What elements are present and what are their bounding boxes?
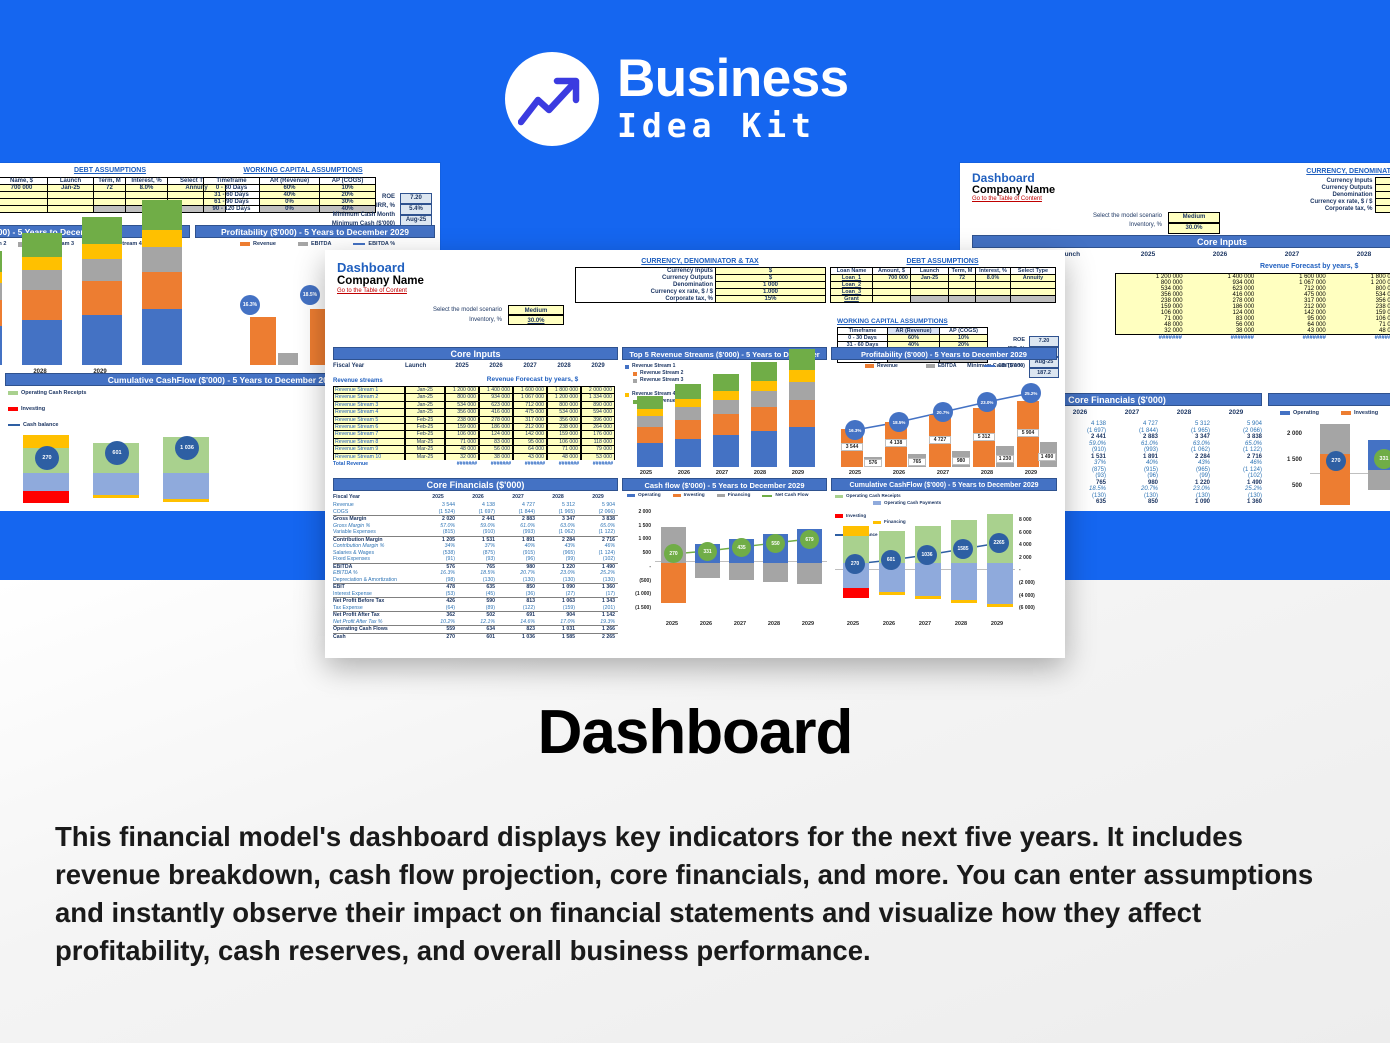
page-heading: Dashboard [0, 697, 1390, 768]
cumulative-axis-labels: 2025 2026 2027 2028 2029 [835, 621, 1015, 627]
fin-row-value: (201) [578, 605, 618, 612]
right-scenario-values: Medium 30.0% [1168, 212, 1220, 234]
stream-value[interactable]: 48 000 [445, 445, 479, 452]
stream-value[interactable]: 356 000 [445, 408, 479, 415]
table-row[interactable]: Loan_3 [831, 289, 1056, 296]
table-row[interactable]: Loan_2 [831, 282, 1056, 289]
axis-label: 2028 [965, 470, 1009, 476]
ebitda-data-label: 765 [908, 458, 926, 466]
currency-table[interactable]: Currency Inputs$ Currency Outputs$ Denom… [575, 267, 826, 303]
legend-item: EBITDA % [998, 363, 1022, 369]
stream-value[interactable]: 317 000 [513, 416, 547, 423]
table-row[interactable]: Revenue Stream 8Mar-2571 00083 00095 000… [333, 438, 618, 445]
table-row[interactable]: Revenue Stream 4Jan-25356 000416 000475 … [333, 408, 618, 415]
stream-launch[interactable]: Feb-25 [405, 423, 445, 430]
stream-name[interactable]: Revenue Stream 5 [333, 416, 405, 423]
profitability-axis-labels: 2025 2026 2027 2028 2029 [833, 470, 1057, 476]
wc-section-title: WORKING CAPITAL ASSUMPTIONS [837, 318, 1017, 325]
stream-name[interactable]: Revenue Stream 10 [333, 453, 405, 460]
currency-row-value[interactable]: 15% [716, 296, 826, 303]
loan-term[interactable]: 72 [949, 275, 976, 282]
table-row: Operating Cash Flows5596348231 0311 266 [333, 625, 618, 633]
table-row: Net Profit Before Tax4265908131 0631 343 [333, 597, 618, 605]
fiscal-year-label: Fiscal Year [333, 494, 418, 500]
stream-value[interactable]: 1 200 000 [445, 386, 479, 393]
loan-interest[interactable]: 8.0% [976, 275, 1011, 282]
fin-row-value: (53) [418, 591, 458, 598]
stream-value[interactable]: 56 000 [479, 445, 513, 452]
total-revenue-label: Total Revenue [333, 461, 405, 467]
cash-balance-bubble: 601 [881, 550, 901, 570]
axis-label: 2027 [921, 470, 965, 476]
stream-value[interactable]: 534 000 [445, 401, 479, 408]
right-banner-core-inputs: Core Inputs [972, 235, 1390, 248]
legend-profitability: Revenue EBITDA EBITDA % [865, 363, 1023, 369]
currency-row-label: Currency Outputs [576, 275, 716, 282]
currency-section-title: CURRENCY, DENOMINATOR & TAX [575, 258, 825, 265]
fin-row-value: (1 524) [418, 509, 458, 516]
fin-row-value: (130) [458, 577, 498, 584]
left-debt-title: DEBT ASSUMPTIONS [0, 167, 225, 174]
fin-row-value: (1 844) [498, 509, 538, 516]
kpi-label: ROE [1013, 337, 1025, 343]
stream-value[interactable]: 1 400 000 [479, 386, 513, 393]
fin-row-value: 559 [418, 626, 458, 633]
table-row: Interest Expense(53)(45)(36)(27)(17) [333, 591, 618, 598]
stream-value[interactable]: 238 000 [547, 423, 581, 430]
fin-row-value: (2 066) [578, 509, 618, 516]
stream-value[interactable]: 712 000 [513, 401, 547, 408]
stream-launch[interactable]: Jan-25 [405, 408, 445, 415]
debt-table[interactable]: Loan Name Amount, $ Launch Term, M Inter… [830, 267, 1056, 303]
stream-value[interactable]: 53 000 [581, 453, 615, 460]
currency-row-label: Currency ex rate, $ / $ [576, 289, 716, 296]
total-value: ####### [479, 461, 513, 467]
table-row: COGS(1 524)(1 697)(1 844)(1 965)(2 066) [333, 509, 618, 516]
fin-row-value: 601 [458, 634, 498, 641]
year-header: 2025 [445, 363, 479, 369]
wc-col-header: Timeframe [838, 328, 888, 335]
stream-value[interactable]: 278 000 [479, 416, 513, 423]
revenue-data-label: 3 544 [841, 443, 863, 451]
netcashflow-bubble: 679 [800, 530, 819, 549]
cashflow-yticks: 2 0001 5001 000500-(500)(1 000)(1 500) [625, 506, 651, 616]
axis-label: 2027 [907, 621, 943, 627]
fin-row-label: Net Profit After Tax % [333, 619, 418, 626]
cash-balance-bubble: 1036 [917, 545, 937, 565]
fin-row-value: 10.2% [418, 619, 458, 626]
inventory-input[interactable]: 30.0% [508, 315, 564, 325]
year-header: 2027 [498, 494, 538, 500]
left-wc-title: WORKING CAPITAL ASSUMPTIONS [203, 167, 403, 174]
stream-name[interactable]: Revenue Stream 9 [333, 445, 405, 452]
year-header: 2028 [547, 363, 581, 369]
stream-name[interactable]: Revenue Stream 6 [333, 423, 405, 430]
stream-launch[interactable]: Mar-25 [405, 438, 445, 445]
banner-core-inputs: Core Inputs [333, 347, 618, 360]
axis-label: 2025 [833, 470, 877, 476]
currency-row-value[interactable]: $ [716, 268, 826, 275]
axis-label: 2029 [791, 621, 825, 627]
loan-type[interactable]: Annuity [1011, 275, 1056, 282]
stream-value[interactable]: 1 200 000 [547, 393, 581, 400]
legend-item: Revenue Stream 1 [632, 363, 675, 370]
right-chart-cashflow: 270 331 435 [1310, 421, 1390, 505]
stream-launch[interactable]: Jan-25 [405, 401, 445, 408]
fin-row-value: 17.0% [538, 619, 578, 626]
fin-row-value: 14.6% [498, 619, 538, 626]
right-toc-link[interactable]: Go to the Table of Content [972, 196, 1042, 202]
company-name: Company Name [337, 275, 424, 287]
netcashflow-bubble: 435 [732, 538, 751, 557]
fin-row-label: Tax Expense [333, 605, 418, 612]
debt-col-header: Amount, $ [873, 268, 911, 275]
revenue-forecast-title: Revenue Forecast by years, $ [445, 376, 620, 383]
table-row: Gross Margin2 0202 4412 8833 3473 838 [333, 515, 618, 523]
axis-label: 2029 [979, 621, 1015, 627]
fin-row-value: (1 062) [538, 529, 578, 536]
year-header: 2026 [479, 363, 513, 369]
core-fin-year-header: Fiscal Year 2025 2026 2027 2028 2029 [333, 494, 618, 500]
right-cashflow-yticks: 2 0001 500500 [1272, 421, 1302, 499]
fin-row-label: COGS [333, 509, 418, 516]
debt-section-title: DEBT ASSUMPTIONS [830, 258, 1055, 265]
chart-profitability: 16.3% 18.5% 20.7% 23.0% 25.2% 3 544 576 … [833, 374, 1057, 467]
fin-row-value: (27) [538, 591, 578, 598]
legend-item: Operating [638, 493, 661, 498]
axis-label: 2026 [871, 621, 907, 627]
table-of-content-link[interactable]: Go to the Table of Content [337, 288, 407, 294]
stream-name[interactable]: Revenue Stream 2 [333, 393, 405, 400]
ebitda-data-label: 1 230 [996, 455, 1014, 463]
banner-profitability: Profitability ($'000) - 5 Years to Decem… [831, 347, 1057, 360]
fin-row-value: (993) [498, 529, 538, 536]
stream-value[interactable]: 106 000 [547, 438, 581, 445]
revenue-data-label: 5 904 [1017, 429, 1039, 437]
stream-value[interactable]: 534 000 [547, 408, 581, 415]
stream-value[interactable]: 186 000 [479, 423, 513, 430]
currency-row-value[interactable]: 1 000 [716, 282, 826, 289]
loan-amount[interactable]: 700 000 [873, 275, 911, 282]
wc-col-header: AR (Revenue) [888, 328, 940, 335]
chart-top5-revenue [627, 382, 825, 467]
stream-value[interactable]: 32 000 [445, 453, 479, 460]
stream-value[interactable]: 212 000 [513, 423, 547, 430]
currency-row-value[interactable]: $ [716, 275, 826, 282]
table-row: Variable Expenses(815)(910)(993)(1 062)(… [333, 529, 618, 536]
stream-value[interactable]: 1 600 000 [513, 386, 547, 393]
cash-balance-bubble: 1585 [953, 539, 973, 559]
page-title: Dashboard [337, 260, 405, 275]
stream-value[interactable]: 890 000 [581, 401, 615, 408]
stream-value[interactable]: 176 000 [581, 430, 615, 437]
axis-label: 2029 [779, 470, 817, 476]
total-value: ####### [547, 461, 581, 467]
debt-col-header: Select Type [1011, 268, 1056, 275]
ebitda-pct-bubble: 16.3% [845, 420, 865, 440]
stream-value[interactable]: 95 000 [513, 438, 547, 445]
stream-name[interactable]: Revenue Stream 8 [333, 438, 405, 445]
inventory-label-text: Inventory, % [469, 317, 502, 323]
left-legend-profit: Revenue EBITDA EBITDA % [240, 241, 395, 247]
banner-core-financials: Core Financials ($'000) [333, 478, 618, 491]
netcashflow-bubble: 331 [698, 542, 717, 561]
core-financials-table: Fiscal Year 2025 2026 2027 2028 2029 Rev… [333, 494, 618, 640]
ebitda-data-label: 576 [864, 459, 882, 467]
brand-name-primary: Business [617, 52, 849, 105]
stream-value[interactable]: 79 000 [581, 445, 615, 452]
stream-launch[interactable]: Jan-25 [405, 393, 445, 400]
table-row: Net Profit After Tax %10.2%12.1%14.6%17.… [333, 619, 618, 626]
fin-row-label: Interest Expense [333, 591, 418, 598]
year-header: 2025 [418, 494, 458, 500]
table-row[interactable]: Revenue Stream 2Jan-25800 000934 0001 06… [333, 393, 618, 400]
fin-row-value: (1 965) [538, 509, 578, 516]
brand-name-secondary: Idea Kit [617, 105, 849, 146]
stream-launch[interactable]: Mar-25 [405, 453, 445, 460]
fin-row-value: 270 [418, 634, 458, 641]
fin-row-value: (130) [498, 577, 538, 584]
table-row: Net Profit After Tax3625026919041 142 [333, 611, 618, 619]
fin-row-value: 1 031 [538, 626, 578, 633]
axis-label: 2025 [627, 470, 665, 476]
ebitda-data-label: 980 [952, 457, 970, 465]
stream-value[interactable]: 1 800 000 [547, 386, 581, 393]
fin-row-value: (91) [418, 556, 458, 563]
stream-value[interactable]: 1 334 000 [581, 393, 615, 400]
stream-value[interactable]: 71 000 [445, 438, 479, 445]
fin-row-value: (99) [538, 556, 578, 563]
stream-value[interactable]: 64 000 [513, 445, 547, 452]
fin-row-value: (159) [538, 605, 578, 612]
banner-cash-flow: Cash flow ($'000) - 5 Years to December … [622, 478, 827, 491]
right-forecast-table: 1 200 0001 400 0001 600 0001 800 0002 00… [1115, 273, 1390, 341]
fin-row-value: (815) [418, 529, 458, 536]
stream-value[interactable]: 38 000 [479, 453, 513, 460]
ebitda-pct-bubble: 23.0% [977, 392, 997, 412]
axis-label: 2027 [723, 621, 757, 627]
wc-timeframe: 0 - 30 Days [838, 335, 888, 342]
stream-value[interactable]: 106 000 [445, 430, 479, 437]
axis-label: 2028 [943, 621, 979, 627]
axis-label: 2026 [689, 621, 723, 627]
legend-item: Revenue [877, 363, 898, 369]
currency-row-value[interactable]: 1.000 [716, 289, 826, 296]
fin-row-value: (910) [458, 529, 498, 536]
page-description: This financial model's dashboard display… [55, 818, 1340, 970]
left-banner-profit: Profitability ($'000) - 5 Years to Decem… [195, 225, 435, 238]
stream-value[interactable]: 800 000 [547, 401, 581, 408]
fin-row-value: (64) [418, 605, 458, 612]
core-inputs-header: Fiscal Year Launch 2025 2026 2027 2028 2… [333, 363, 618, 369]
stream-launch[interactable]: Jan-25 [405, 386, 445, 393]
table-row[interactable]: Revenue Stream 10Mar-2532 00038 00043 00… [333, 453, 618, 460]
stream-value[interactable]: 124 000 [479, 430, 513, 437]
table-row: Cash2706011 0361 5852 265 [333, 633, 618, 641]
fin-row-value: (89) [458, 605, 498, 612]
stream-value[interactable]: 264 000 [581, 423, 615, 430]
loan-name[interactable]: Loan_3 [831, 289, 873, 296]
right-legend-cashflow: Operating Investing [1280, 410, 1390, 416]
right-currency-title: CURRENCY, DENOMINATOR & TAX [1250, 168, 1390, 175]
fin-row-label: Fixed Expenses [333, 556, 418, 563]
table-row[interactable]: Loan_1 700 000 Jan-25 72 8.0% Annuity [831, 275, 1056, 282]
loan-name[interactable]: Loan_2 [831, 282, 873, 289]
stream-value[interactable]: 416 000 [479, 408, 513, 415]
revenue-streams-table[interactable]: Revenue Stream 1Jan-251 200 0001 400 000… [333, 386, 618, 467]
stream-value[interactable]: 83 000 [479, 438, 513, 445]
table-row[interactable]: Revenue Stream 1Jan-251 200 0001 400 000… [333, 386, 618, 393]
axis-label: 2025 [835, 621, 871, 627]
year-header: 2029 [581, 363, 615, 369]
table-row[interactable]: Revenue Stream 6Feb-25159 000186 000212 … [333, 423, 618, 430]
legend-item: Operating Cash Payments [884, 500, 941, 507]
fin-row-value: 1 585 [538, 634, 578, 641]
stream-name[interactable]: Revenue Stream 4 [333, 408, 405, 415]
stream-value[interactable]: 396 000 [581, 416, 615, 423]
left-debt-table: Name, $LaunchTerm, M Interest, %Select T… [0, 177, 226, 213]
revenue-streams-body[interactable]: Revenue Stream 1Jan-251 200 0001 400 000… [333, 386, 618, 460]
right-currency-table: Currency Inputs$ Currency Outputs$ Denom… [1250, 177, 1390, 213]
scenario-label-text: Select the model scenario [433, 307, 502, 313]
fin-row-value: 2 265 [578, 634, 618, 641]
dashboard-sheet[interactable]: Dashboard Company Name Go to the Table o… [325, 250, 1065, 658]
fin-row-value: (98) [418, 577, 458, 584]
fin-row-value: (1 122) [578, 529, 618, 536]
brand-logo: Business Idea Kit [505, 52, 849, 146]
ebitda-pct-bubble: 18.5% [889, 412, 909, 432]
scenario-inputs[interactable]: Medium 30.0% [508, 305, 564, 325]
cash-balance-bubble: 270 [845, 554, 865, 574]
scenario-label: Select the model scenario Inventory, % [337, 305, 502, 325]
total-value: ####### [581, 461, 615, 467]
right-scenario-labels: Select the model scenarioInventory, % [972, 212, 1162, 230]
stream-launch[interactable]: Mar-25 [405, 445, 445, 452]
stream-name[interactable]: Revenue Stream 7 [333, 430, 405, 437]
year-header: 2026 [458, 494, 498, 500]
kpi-value: 7.20 [1029, 336, 1059, 347]
right-forecast-title: Revenue Forecast by years, $ [1260, 263, 1390, 270]
table-row[interactable]: Revenue Stream 3Jan-25534 000623 000712 … [333, 401, 618, 408]
fiscal-year-label: Fiscal Year [333, 363, 405, 369]
fin-row-label: Operating Cash Flows [333, 626, 418, 633]
fin-row-value: (45) [458, 591, 498, 598]
stream-value[interactable]: 118 000 [581, 438, 615, 445]
stream-value[interactable]: 43 000 [513, 453, 547, 460]
table-row[interactable]: Revenue Stream 9Mar-2548 00056 00064 000… [333, 445, 618, 452]
left-chart-top5 [0, 255, 190, 365]
stream-value[interactable]: 159 000 [547, 430, 581, 437]
right-company-name: Company Name [972, 184, 1055, 196]
right-dashboard-title: Dashboard [972, 171, 1035, 185]
cashflow-axis-labels: 2025 2026 2027 2028 2029 [655, 621, 827, 627]
fin-row-value: 1 266 [578, 626, 618, 633]
stream-launch[interactable]: Feb-25 [405, 430, 445, 437]
stream-value[interactable]: 71 000 [547, 445, 581, 452]
netcashflow-bubble: 550 [766, 534, 785, 553]
fin-row-value: (96) [498, 556, 538, 563]
fin-row-value: 19.3% [578, 619, 618, 626]
stream-value[interactable]: 142 000 [513, 430, 547, 437]
debt-col-header: Interest, % [976, 268, 1011, 275]
table-row[interactable]: Grant [831, 296, 1056, 303]
fin-row-label: Cash [333, 634, 418, 641]
fin-row-value: (130) [538, 577, 578, 584]
table-row: Depreciation & Amortization(98)(130)(130… [333, 577, 618, 584]
axis-label: 2026 [877, 470, 921, 476]
stream-value[interactable]: 356 000 [547, 416, 581, 423]
stream-name[interactable]: Revenue Stream 1 [333, 386, 405, 393]
revenue-streams-label: Revenue streams [333, 378, 383, 384]
stream-value[interactable]: 48 000 [547, 453, 581, 460]
fin-row-value: (1 697) [458, 509, 498, 516]
fin-row-value: 823 [498, 626, 538, 633]
netcashflow-bubble: 270 [664, 544, 683, 563]
stream-value[interactable]: 238 000 [445, 416, 479, 423]
revenue-data-label: 5 312 [973, 433, 995, 441]
top5-axis-labels: 2025 2026 2027 2028 2029 [627, 470, 825, 476]
table-row: EBITDA5767659801 2201 490 [333, 563, 618, 571]
table-row[interactable]: Revenue Stream 7Feb-25106 000124 000142 … [333, 430, 618, 437]
fin-row-label: Depreciation & Amortization [333, 577, 418, 584]
banner-cumulative-cashflow: Cumulative CashFlow ($'000) - 5 Years to… [831, 478, 1057, 491]
stream-value[interactable]: 934 000 [479, 393, 513, 400]
stream-value[interactable]: 159 000 [445, 423, 479, 430]
chart-cash-flow: 270 331 435 550 679 [655, 506, 827, 618]
debt-col-header: Loan Name [831, 268, 873, 275]
legend-cash-flow: Operating Investing Financing Net Cash F… [627, 493, 808, 498]
right-banner-cashflow: Cash flow ($'000) - 5 Years [1268, 393, 1390, 406]
revenue-data-label: 4 727 [929, 436, 951, 444]
total-value: ####### [513, 461, 547, 467]
stream-value[interactable]: 800 000 [445, 393, 479, 400]
stream-name[interactable]: Revenue Stream 3 [333, 401, 405, 408]
legend-item: Revenue Stream 2 [640, 370, 683, 377]
table-row: Contribution Margin1 2051 5311 8912 2842… [333, 536, 618, 544]
legend-item: Net Cash Flow [775, 493, 808, 498]
loan-name[interactable]: Loan_1 [831, 275, 873, 282]
total-value: ####### [445, 461, 479, 467]
currency-row-label: Denomination [576, 282, 716, 289]
stream-value[interactable]: 2 000 000 [581, 386, 615, 393]
stream-value[interactable]: 623 000 [479, 401, 513, 408]
loan-name[interactable]: Grant [831, 296, 873, 303]
stream-value[interactable]: 594 000 [581, 408, 615, 415]
stream-launch[interactable]: Feb-25 [405, 416, 445, 423]
wc-col-header: AP (COGS) [940, 328, 988, 335]
table-row[interactable]: Revenue Stream 5Feb-25238 000278 000317 … [333, 416, 618, 423]
table-row: EBIT4786358501 0901 360 [333, 583, 618, 591]
fin-row-value: 634 [458, 626, 498, 633]
year-header: 2028 [538, 494, 578, 500]
ebitda-pct-bubble: 25.2% [1021, 383, 1041, 403]
growth-arrow-icon [505, 52, 599, 146]
cumulative-yticks: 8 0006 0004 0002 000-(2 000)(4 000)(6 00… [1019, 514, 1051, 615]
legend-item: Financing [728, 493, 751, 498]
stream-value[interactable]: 1 067 000 [513, 393, 547, 400]
year-header: 2029 [578, 494, 618, 500]
launch-label: Launch [405, 363, 445, 369]
total-revenue-row: Total Revenue ####### ####### ####### ##… [333, 461, 618, 467]
loan-launch[interactable]: Jan-25 [911, 275, 949, 282]
fin-row-value: (36) [498, 591, 538, 598]
fin-row-value: 1 036 [498, 634, 538, 641]
stream-value[interactable]: 475 000 [513, 408, 547, 415]
fin-row-value: (93) [458, 556, 498, 563]
scenario-select[interactable]: Medium [508, 305, 564, 315]
fin-row-value: (130) [578, 577, 618, 584]
axis-label: 2027 [703, 470, 741, 476]
